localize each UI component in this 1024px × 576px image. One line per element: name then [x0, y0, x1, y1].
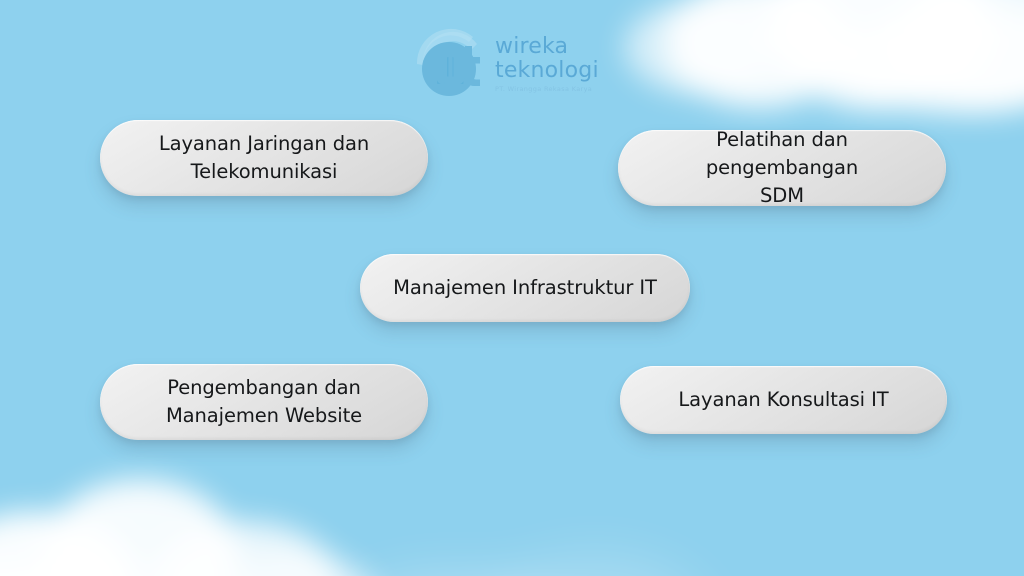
service-pill-pelatihan-sdm[interactable]: Pelatihan dan pengembangan SDM: [618, 130, 946, 206]
logo-line-2: teknologi: [495, 60, 599, 82]
service-label: Layanan Jaringan dan Telekomunikasi: [159, 130, 369, 185]
service-label: Pengembangan dan Manajemen Website: [166, 374, 362, 429]
logo-line-1: wireka: [495, 36, 599, 58]
service-pill-pengembangan-website[interactable]: Pengembangan dan Manajemen Website: [100, 364, 428, 440]
wireka-monogram-icon: [413, 24, 489, 102]
service-label: Manajemen Infrastruktur IT: [393, 274, 657, 302]
slide-canvas: wireka teknologi PT. Wirangga Rekasa Kar…: [0, 0, 1024, 576]
cloud-bottom-center: [330, 536, 710, 576]
service-label: Pelatihan dan pengembangan SDM: [644, 126, 920, 209]
service-pill-manajemen-infrastruktur-it[interactable]: Manajemen Infrastruktur IT: [360, 254, 690, 322]
service-label: Layanan Konsultasi IT: [678, 386, 888, 414]
logo-tagline: PT. Wirangga Rekasa Karya: [495, 86, 599, 93]
logo-wordmark: wireka teknologi PT. Wirangga Rekasa Kar…: [495, 34, 599, 93]
cloud-bottom-left: [0, 451, 380, 576]
cloud-top-right: [624, 0, 1024, 120]
service-pill-jaringan-telekomunikasi[interactable]: Layanan Jaringan dan Telekomunikasi: [100, 120, 428, 196]
service-pill-layanan-konsultasi-it[interactable]: Layanan Konsultasi IT: [620, 366, 947, 434]
company-logo: wireka teknologi PT. Wirangga Rekasa Kar…: [413, 22, 613, 104]
